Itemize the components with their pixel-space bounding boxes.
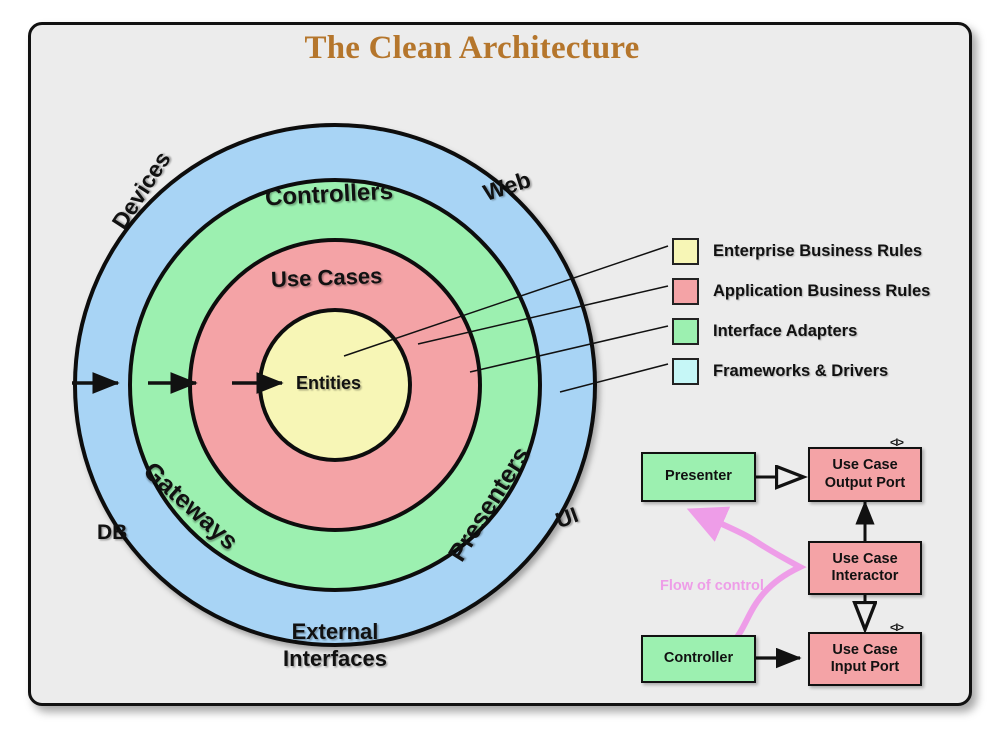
legend-item-application: Application Business Rules <box>672 271 930 311</box>
legend-label-enterprise: Enterprise Business Rules <box>713 242 922 261</box>
legend-label-interface-adapters: Interface Adapters <box>713 322 857 341</box>
box-interactor-line1: Use Case <box>832 551 897 568</box>
legend-swatch-enterprise <box>672 238 699 265</box>
box-interactor-line2: Interactor <box>832 568 899 585</box>
box-input-port-line1: Use Case <box>832 642 897 659</box>
flow-of-control-label: Flow of control <box>660 578 764 594</box>
legend-label-frameworks: Frameworks & Drivers <box>713 362 888 381</box>
box-presenter-label: Presenter <box>665 468 732 485</box>
flow-of-control-label-text: Flow of control <box>660 578 764 594</box>
legend-item-interface-adapters: Interface Adapters <box>672 311 930 351</box>
ring-label-external-interfaces: External Interfaces <box>250 619 420 673</box>
legend-item-enterprise: Enterprise Business Rules <box>672 231 930 271</box>
box-use-case-input-port: Use Case Input Port <box>808 632 922 686</box>
box-use-case-output-port: Use Case Output Port <box>808 447 922 502</box>
ring-label-entities-text: Entities <box>296 373 361 393</box>
box-input-port-line2: Input Port <box>831 659 899 676</box>
box-presenter: Presenter <box>641 452 756 502</box>
page-title: The Clean Architecture <box>0 30 944 67</box>
ring-label-use-cases: Use Cases <box>271 263 383 293</box>
ring-label-controllers-text: Controllers <box>264 178 393 212</box>
box-controller: Controller <box>641 635 756 683</box>
legend-swatch-frameworks <box>672 358 699 385</box>
external-label-line2: Interfaces <box>250 646 420 673</box>
ring-label-db-text: DB <box>97 521 127 544</box>
box-output-port-line2: Output Port <box>825 475 906 492</box>
legend-swatch-application <box>672 278 699 305</box>
legend: Enterprise Business Rules Application Bu… <box>672 231 930 391</box>
external-label-line1: External <box>250 619 420 646</box>
interface-marker-input-port-text: <I> <box>890 622 903 634</box>
box-output-port-line1: Use Case <box>832 457 897 474</box>
interface-marker-input-port: <I> <box>890 622 903 634</box>
ring-label-entities: Entities <box>296 373 361 394</box>
interface-marker-output-port-text: <I> <box>890 437 903 449</box>
diagram-canvas: The Clean Architecture <box>0 0 1000 734</box>
interface-marker-output-port: <I> <box>890 437 903 449</box>
legend-label-application: Application Business Rules <box>713 282 930 301</box>
ring-label-use-cases-text: Use Cases <box>271 263 383 292</box>
box-controller-label: Controller <box>664 650 733 667</box>
legend-item-frameworks: Frameworks & Drivers <box>672 351 930 391</box>
box-use-case-interactor: Use Case Interactor <box>808 541 922 595</box>
ring-label-db: DB <box>97 521 127 545</box>
legend-swatch-interface-adapters <box>672 318 699 345</box>
